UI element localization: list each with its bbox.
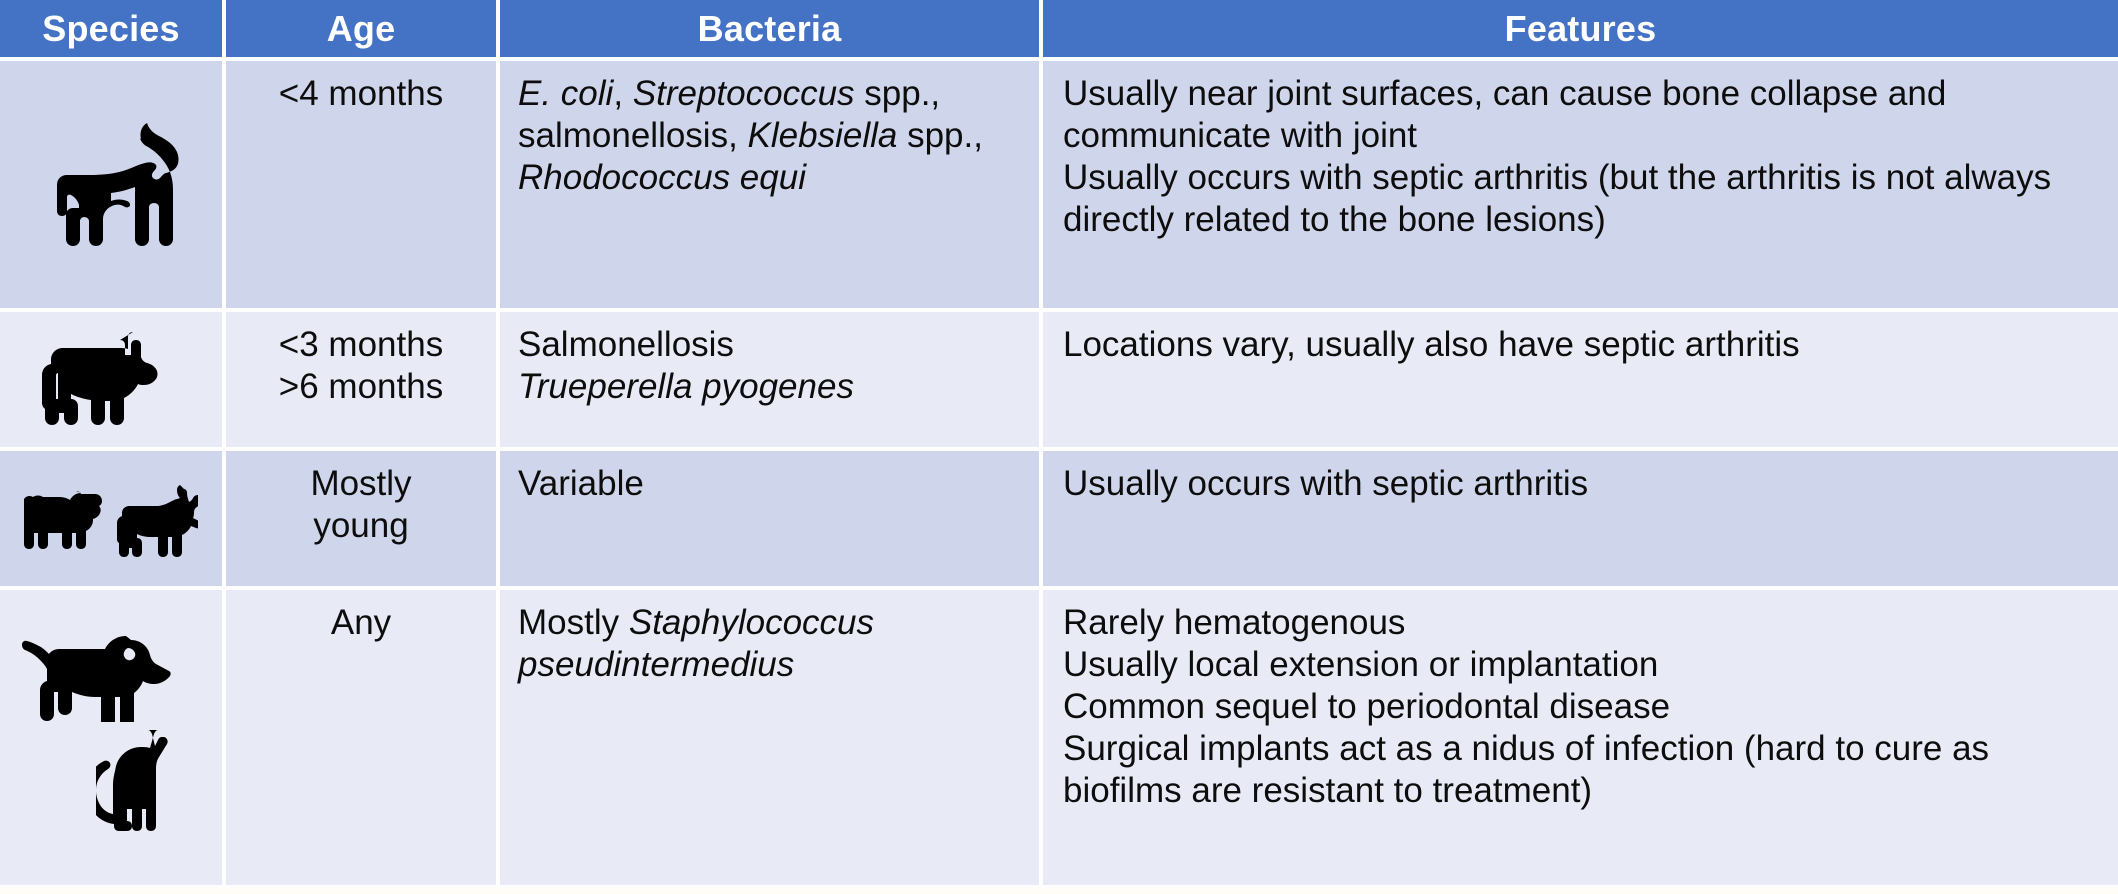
age-line: <3 months: [236, 324, 486, 366]
feature-line: Rarely hematogenous: [1063, 602, 2104, 644]
column-header-features: Features: [1043, 0, 2118, 61]
age-line: Any: [236, 602, 486, 644]
table-row: <4 months E. coli, Streptococcus spp., s…: [0, 61, 2118, 312]
features-cell-cattle: Locations vary, usually also have septic…: [1043, 312, 2118, 451]
species-icon-group: [0, 481, 222, 557]
features-cell-horse: Usually near joint surfaces, can cause b…: [1043, 61, 2118, 312]
bacteria-run: spp.,: [897, 116, 983, 155]
bacteria-run: ,: [613, 74, 632, 113]
bacteria-run: Klebsiella: [748, 116, 898, 155]
table-body: <4 months E. coli, Streptococcus spp., s…: [0, 61, 2118, 889]
table-row: Any Mostly Staphylococcus pseudintermedi…: [0, 590, 2118, 889]
age-line: young: [236, 505, 486, 547]
age-cell-dogs-cats: Any: [226, 590, 500, 889]
bacteria-cell-horse: E. coli, Streptococcus spp., salmonellos…: [500, 61, 1043, 312]
species-icon-group: [0, 115, 222, 255]
species-icon-group: [0, 630, 222, 846]
column-header-bacteria: Bacteria: [500, 0, 1043, 61]
bacteria-run: Trueperella pyogenes: [518, 366, 1025, 408]
age-cell-cattle: <3 months >6 months: [226, 312, 500, 451]
bacteria-cell-small-ruminants: Variable: [500, 451, 1043, 590]
dog-icon: [22, 630, 174, 722]
bacteria-cell-dogs-cats: Mostly Staphylococcus pseudintermedius: [500, 590, 1043, 889]
horse-icon: [37, 115, 185, 255]
cat-icon: [96, 728, 184, 846]
age-line: <4 months: [236, 73, 486, 115]
cow-icon: [33, 324, 189, 436]
feature-line: Usually occurs with septic arthritis (bu…: [1063, 157, 2104, 241]
feature-line: Common sequel to periodontal disease: [1063, 686, 2104, 728]
species-cell-horse: [0, 61, 226, 312]
slide-canvas: Species Age Bacteria Features: [0, 0, 2118, 894]
sheep-icon: [24, 483, 104, 557]
bacteria-run: Variable: [518, 463, 1025, 505]
column-header-species: Species: [0, 0, 226, 61]
species-bacteria-table: Species Age Bacteria Features: [0, 0, 2118, 889]
species-cell-dogs-cats: [0, 590, 226, 889]
age-line: Mostly: [236, 463, 486, 505]
table-row: Mostly young Variable Usually occurs wit…: [0, 451, 2118, 590]
column-header-age: Age: [226, 0, 500, 61]
header-row: Species Age Bacteria Features: [0, 0, 2118, 61]
bacteria-cell-cattle: Salmonellosis Trueperella pyogenes: [500, 312, 1043, 451]
species-icon-group: [0, 324, 222, 436]
table-row: <3 months >6 months Salmonellosis Truepe…: [0, 312, 2118, 451]
table-header: Species Age Bacteria Features: [0, 0, 2118, 61]
goat-icon: [114, 481, 198, 557]
bacteria-run: E. coli: [518, 74, 613, 113]
age-cell-horse: <4 months: [226, 61, 500, 312]
bacteria-run: Salmonellosis: [518, 324, 1025, 366]
feature-line: Usually near joint surfaces, can cause b…: [1063, 73, 2104, 157]
feature-line: Locations vary, usually also have septic…: [1063, 324, 2104, 366]
features-cell-dogs-cats: Rarely hematogenous Usually local extens…: [1043, 590, 2118, 889]
species-cell-cattle: [0, 312, 226, 451]
species-cell-small-ruminants: [0, 451, 226, 590]
feature-line: Surgical implants act as a nidus of infe…: [1063, 728, 2104, 812]
feature-line: Usually local extension or implantation: [1063, 644, 2104, 686]
bacteria-run: Rhodococcus equi: [518, 158, 806, 197]
features-cell-small-ruminants: Usually occurs with septic arthritis: [1043, 451, 2118, 590]
age-cell-small-ruminants: Mostly young: [226, 451, 500, 590]
bacteria-run: Streptococcus: [633, 74, 855, 113]
bacteria-run: Mostly: [518, 603, 629, 642]
feature-line: Usually occurs with septic arthritis: [1063, 463, 2104, 505]
age-line: >6 months: [236, 366, 486, 408]
